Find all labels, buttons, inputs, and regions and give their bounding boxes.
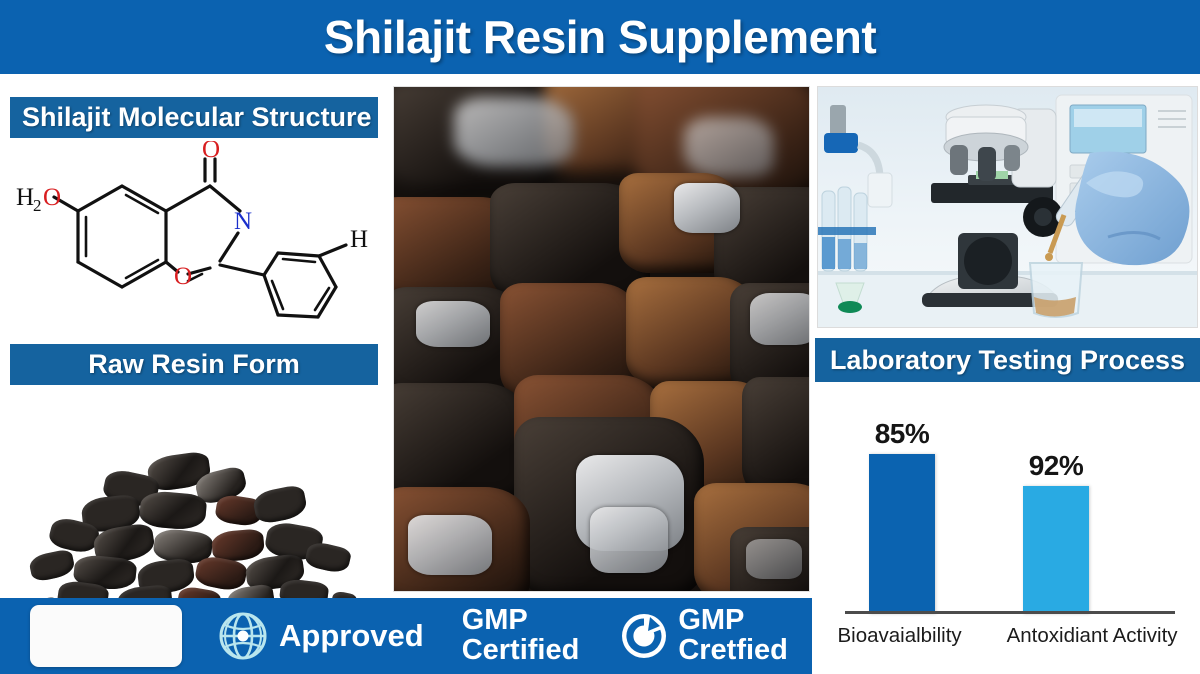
badge-gmp-certified[interactable]: GMP Certified bbox=[462, 606, 580, 665]
lab-results-chart: 85% 92% Bioavaialbility Antoxidiant Acti… bbox=[815, 386, 1200, 674]
chart-plot-area: 85% 92% bbox=[837, 392, 1182, 614]
atom-label-ring-oxygen: O bbox=[174, 263, 192, 290]
molecule-svg: H 2 O O N O H bbox=[6, 141, 384, 339]
bar-value-bioavailability: 85% bbox=[875, 418, 930, 450]
chart-category-labels: Bioavaialbility Antoxidiant Activity bbox=[815, 624, 1200, 648]
atom-label-hydrogen: H bbox=[350, 226, 368, 253]
refresh-circle-icon bbox=[621, 613, 667, 659]
resin-chunk-pile bbox=[30, 448, 360, 623]
page-title: Shilajit Resin Supplement bbox=[324, 10, 876, 64]
certification-footer: Approved GMP Certified GMP Cretfied bbox=[0, 598, 812, 674]
page-header: Shilajit Resin Supplement bbox=[0, 0, 1200, 74]
atom-label-carbonyl-oxygen: O bbox=[202, 141, 220, 163]
molecular-structure-band: Shilajit Molecular Structure bbox=[10, 97, 378, 138]
axis-label-bioavailability: Bioavaialbility bbox=[837, 624, 961, 648]
badge-approved[interactable]: Approved bbox=[218, 611, 424, 661]
raw-resin-band: Raw Resin Form bbox=[10, 344, 378, 385]
atom-label-hydroxyl-oxygen: O bbox=[43, 184, 61, 211]
molecular-structure-label: Shilajit Molecular Structure bbox=[22, 102, 372, 133]
chart-baseline-axis bbox=[845, 611, 1175, 614]
bar-group-antioxidant: 92% bbox=[1023, 392, 1089, 614]
atom-label-h2o: H bbox=[16, 184, 34, 211]
badge-gmp-certified-line2: Certified bbox=[462, 636, 580, 666]
blank-badge-placeholder[interactable] bbox=[30, 605, 182, 667]
bar-value-antioxidant: 92% bbox=[1029, 450, 1084, 482]
badge-gmp-certified-line1: GMP bbox=[462, 606, 580, 636]
bar-antioxidant bbox=[1023, 486, 1089, 614]
badge-gmp-cretfied[interactable]: GMP Cretfied bbox=[621, 606, 788, 665]
infographic-page: Shilajit Resin Supplement Shilajit Molec… bbox=[0, 0, 1200, 674]
laboratory-photo bbox=[817, 86, 1198, 328]
rock-photo-canvas bbox=[394, 87, 809, 591]
badge-approved-label: Approved bbox=[279, 618, 424, 654]
molecular-structure-diagram: H 2 O O N O H bbox=[6, 141, 384, 339]
right-column: Laboratory Testing Process 85% 92% Bioav… bbox=[815, 86, 1200, 674]
left-column: Shilajit Molecular Structure bbox=[0, 79, 390, 598]
badge-gmp-cretfied-line2: Cretfied bbox=[678, 636, 788, 666]
laboratory-testing-band: Laboratory Testing Process bbox=[815, 338, 1200, 382]
raw-resin-label: Raw Resin Form bbox=[88, 349, 300, 380]
bar-bioavailability bbox=[869, 454, 935, 614]
laboratory-testing-label: Laboratory Testing Process bbox=[830, 345, 1185, 376]
shilajit-rocks-photo bbox=[393, 86, 810, 592]
axis-label-antioxidant: Antoxidiant Activity bbox=[1007, 624, 1178, 648]
atom-label-h2o-sub: 2 bbox=[33, 196, 42, 215]
atom-label-nitrogen: N bbox=[234, 208, 252, 235]
badge-gmp-cretfied-line1: GMP bbox=[678, 606, 788, 636]
laboratory-scene-svg bbox=[818, 87, 1198, 328]
globe-icon bbox=[218, 611, 268, 661]
bar-group-bioavailability: 85% bbox=[869, 392, 935, 614]
